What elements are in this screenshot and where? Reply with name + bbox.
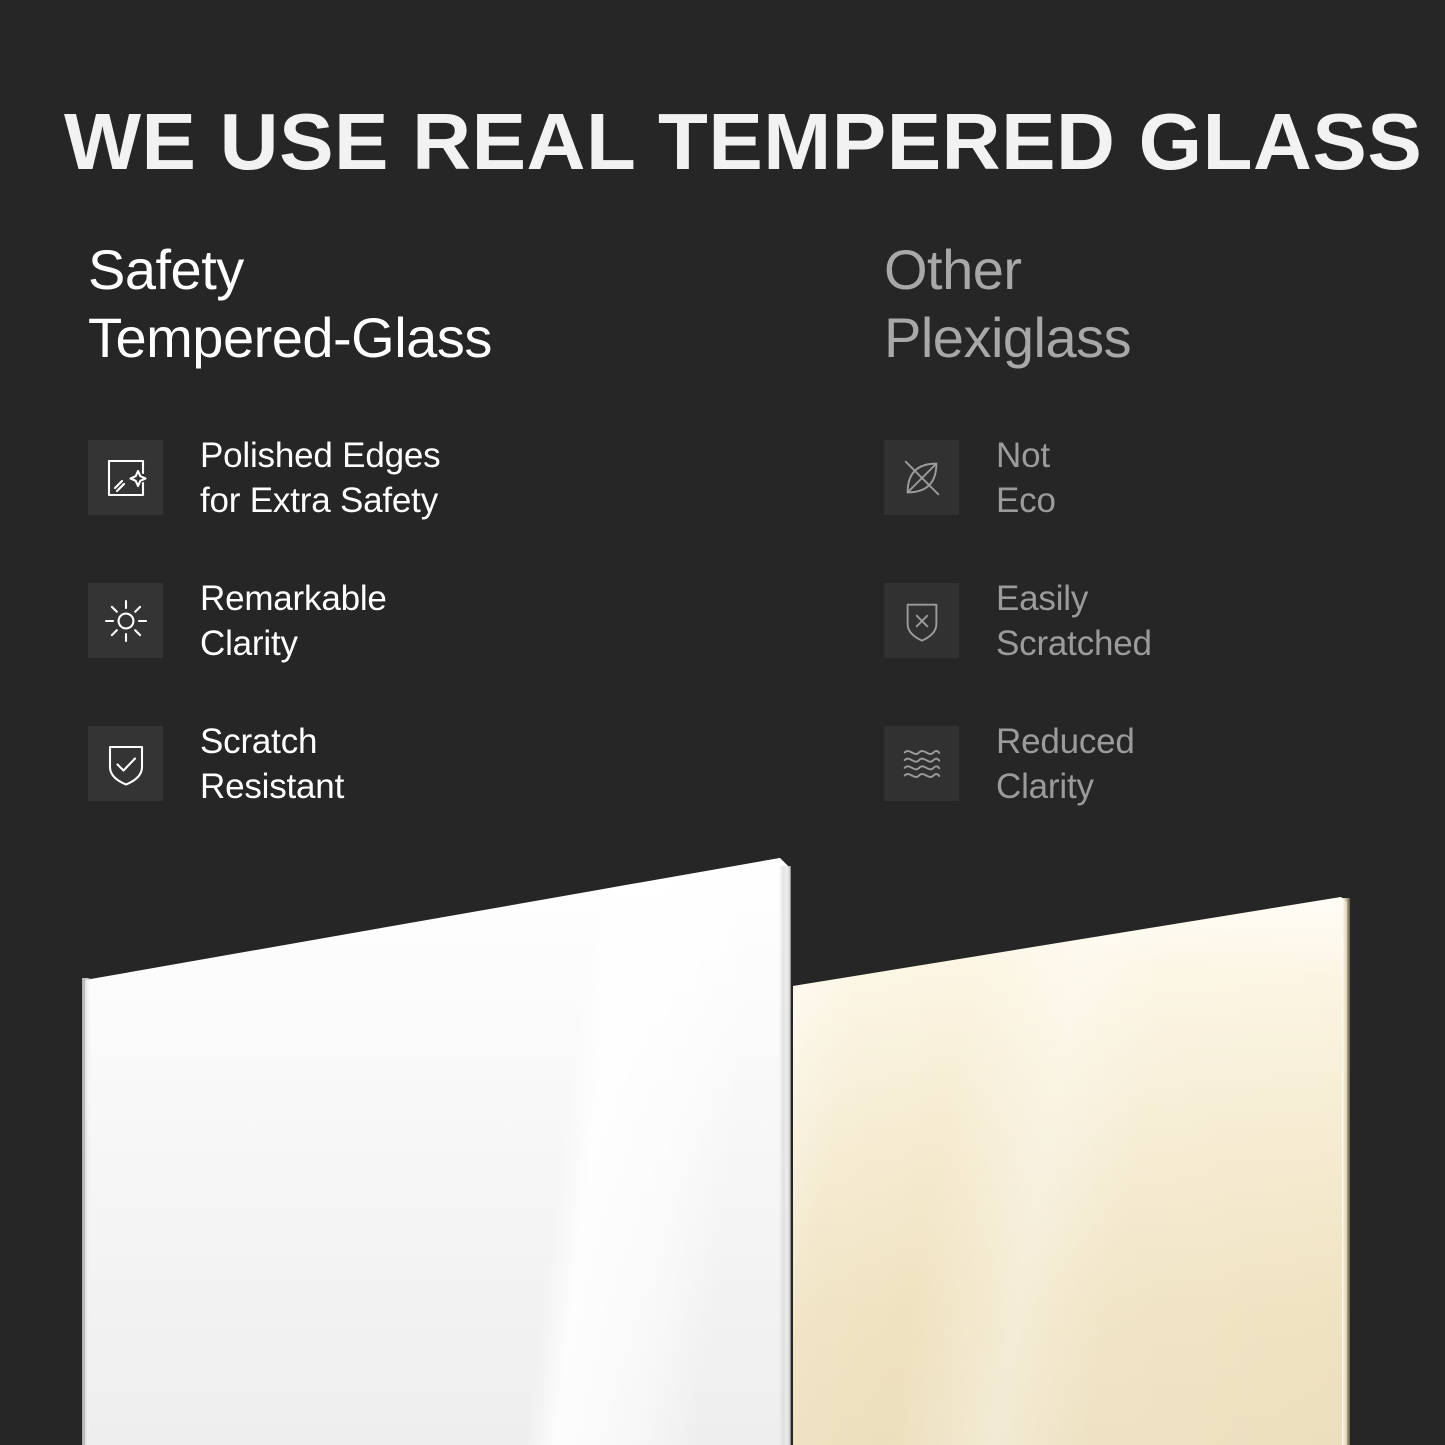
feature-label-line1: Reduced (996, 722, 1135, 761)
icon-container (88, 440, 163, 515)
feature-label-line1: Scratch (200, 722, 317, 761)
feature-label: Not Eco (996, 433, 1056, 523)
polished-glass-pane-sparkle-icon (102, 454, 150, 502)
column-title-right-line1: Other (884, 236, 1404, 304)
icon-container (88, 726, 163, 801)
feature-label-line1: Polished Edges (200, 436, 440, 475)
comparison-columns: Safety Tempered-Glass (0, 236, 1445, 846)
feature-list-right: Not Eco Easily Scratched (884, 440, 1404, 869)
tempered-glass-panel (78, 840, 793, 1445)
feature-label-line2: Eco (996, 481, 1056, 520)
feature-label: Scratch Resistant (200, 719, 344, 809)
feature-row: Polished Edges for Extra Safety (88, 440, 828, 515)
feature-row: Not Eco (884, 440, 1404, 515)
feature-label-line2: Clarity (996, 767, 1094, 806)
feature-label: Polished Edges for Extra Safety (200, 433, 440, 523)
feature-label-line2: Scratched (996, 624, 1152, 663)
column-safety-tempered-glass: Safety Tempered-Glass (88, 236, 828, 372)
wavy-lines-icon (899, 741, 945, 787)
page-title: WE USE REAL TEMPERED GLASS (64, 94, 1421, 190)
feature-row: Remarkable Clarity (88, 583, 828, 658)
feature-label-line2: for Extra Safety (200, 481, 438, 520)
feature-label-line1: Remarkable (200, 579, 387, 618)
feature-row: Scratch Resistant (88, 726, 828, 801)
column-title-right: Other Plexiglass (884, 236, 1404, 372)
feature-row: Reduced Clarity (884, 726, 1404, 801)
icon-container (88, 583, 163, 658)
plexiglass-panel (793, 840, 1353, 1445)
icon-container (884, 440, 959, 515)
feature-list-left: Polished Edges for Extra Safety (88, 440, 828, 869)
feature-label: Reduced Clarity (996, 719, 1135, 809)
icon-container (884, 583, 959, 658)
sun-clarity-icon (102, 597, 150, 645)
column-title-left-line2: Tempered-Glass (88, 304, 828, 372)
column-title-right-line2: Plexiglass (884, 304, 1404, 372)
feature-label: Easily Scratched (996, 576, 1152, 666)
shield-x-icon (899, 598, 945, 644)
column-title-left: Safety Tempered-Glass (88, 236, 828, 372)
plexiglass-right-edge (1342, 898, 1350, 1445)
column-other-plexiglass: Other Plexiglass No (884, 236, 1404, 372)
feature-row: Easily Scratched (884, 583, 1404, 658)
feature-label-line2: Resistant (200, 767, 344, 806)
column-title-left-line1: Safety (88, 236, 828, 304)
icon-container (884, 726, 959, 801)
infographic-page: WE USE REAL TEMPERED GLASS Safety Temper… (0, 0, 1445, 1445)
shield-check-icon (102, 740, 150, 788)
feature-label-line2: Clarity (200, 624, 298, 663)
feature-label-line1: Not (996, 436, 1050, 475)
tempered-glass-left-edge (82, 978, 91, 1445)
feature-label: Remarkable Clarity (200, 576, 387, 666)
tempered-glass-right-edge (779, 866, 791, 1445)
leaf-crossed-out-icon (899, 455, 945, 501)
product-photo (0, 840, 1445, 1445)
feature-label-line1: Easily (996, 579, 1088, 618)
